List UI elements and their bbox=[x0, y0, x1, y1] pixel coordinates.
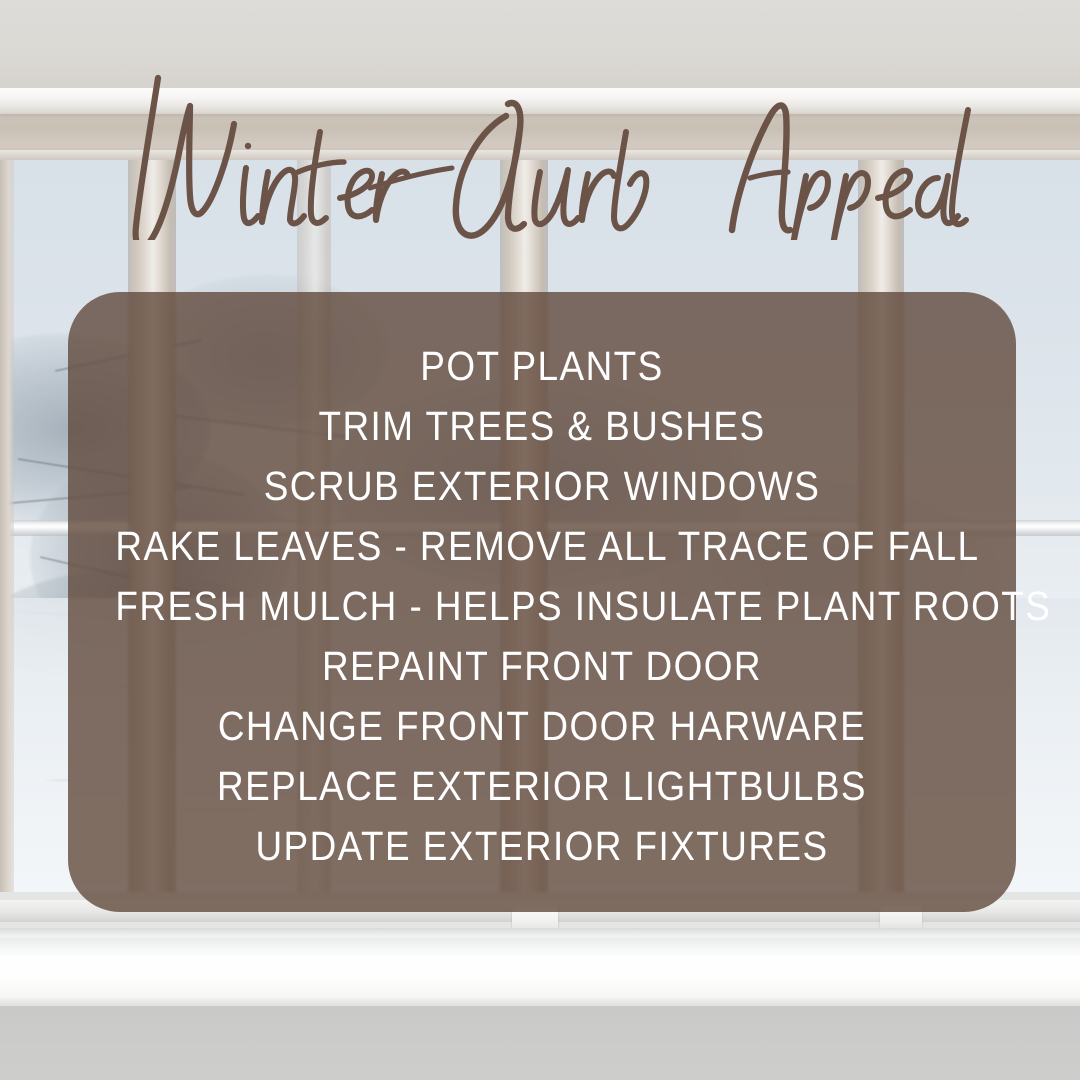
list-item: POT PLANTS bbox=[115, 336, 968, 396]
lower-wall bbox=[0, 1006, 1080, 1080]
list-item: CHANGE FRONT DOOR HARWARE bbox=[115, 696, 968, 756]
task-list: POT PLANTS TRIM TREES & BUSHES SCRUB EXT… bbox=[68, 328, 1016, 876]
list-item: FRESH MULCH - HELPS INSULATE PLANT ROOTS bbox=[115, 576, 968, 636]
list-item: UPDATE EXTERIOR FIXTURES bbox=[115, 816, 968, 876]
window-sill-face bbox=[0, 956, 1080, 1002]
crown-molding bbox=[0, 84, 1080, 114]
list-item: RAKE LEAVES - REMOVE ALL TRACE OF FALL bbox=[115, 516, 968, 576]
list-item: REPAINT FRONT DOOR bbox=[115, 636, 968, 696]
list-item: SCRUB EXTERIOR WINDOWS bbox=[115, 456, 968, 516]
window-frame-left bbox=[0, 150, 14, 892]
ceiling bbox=[0, 0, 1080, 88]
window-head-trim bbox=[0, 150, 1080, 160]
list-item: REPLACE EXTERIOR LIGHTBULBS bbox=[115, 756, 968, 816]
list-item: TRIM TREES & BUSHES bbox=[115, 396, 968, 456]
poster-canvas: POT PLANTS TRIM TREES & BUSHES SCRUB EXT… bbox=[0, 0, 1080, 1080]
task-list-card: POT PLANTS TRIM TREES & BUSHES SCRUB EXT… bbox=[68, 292, 1016, 912]
